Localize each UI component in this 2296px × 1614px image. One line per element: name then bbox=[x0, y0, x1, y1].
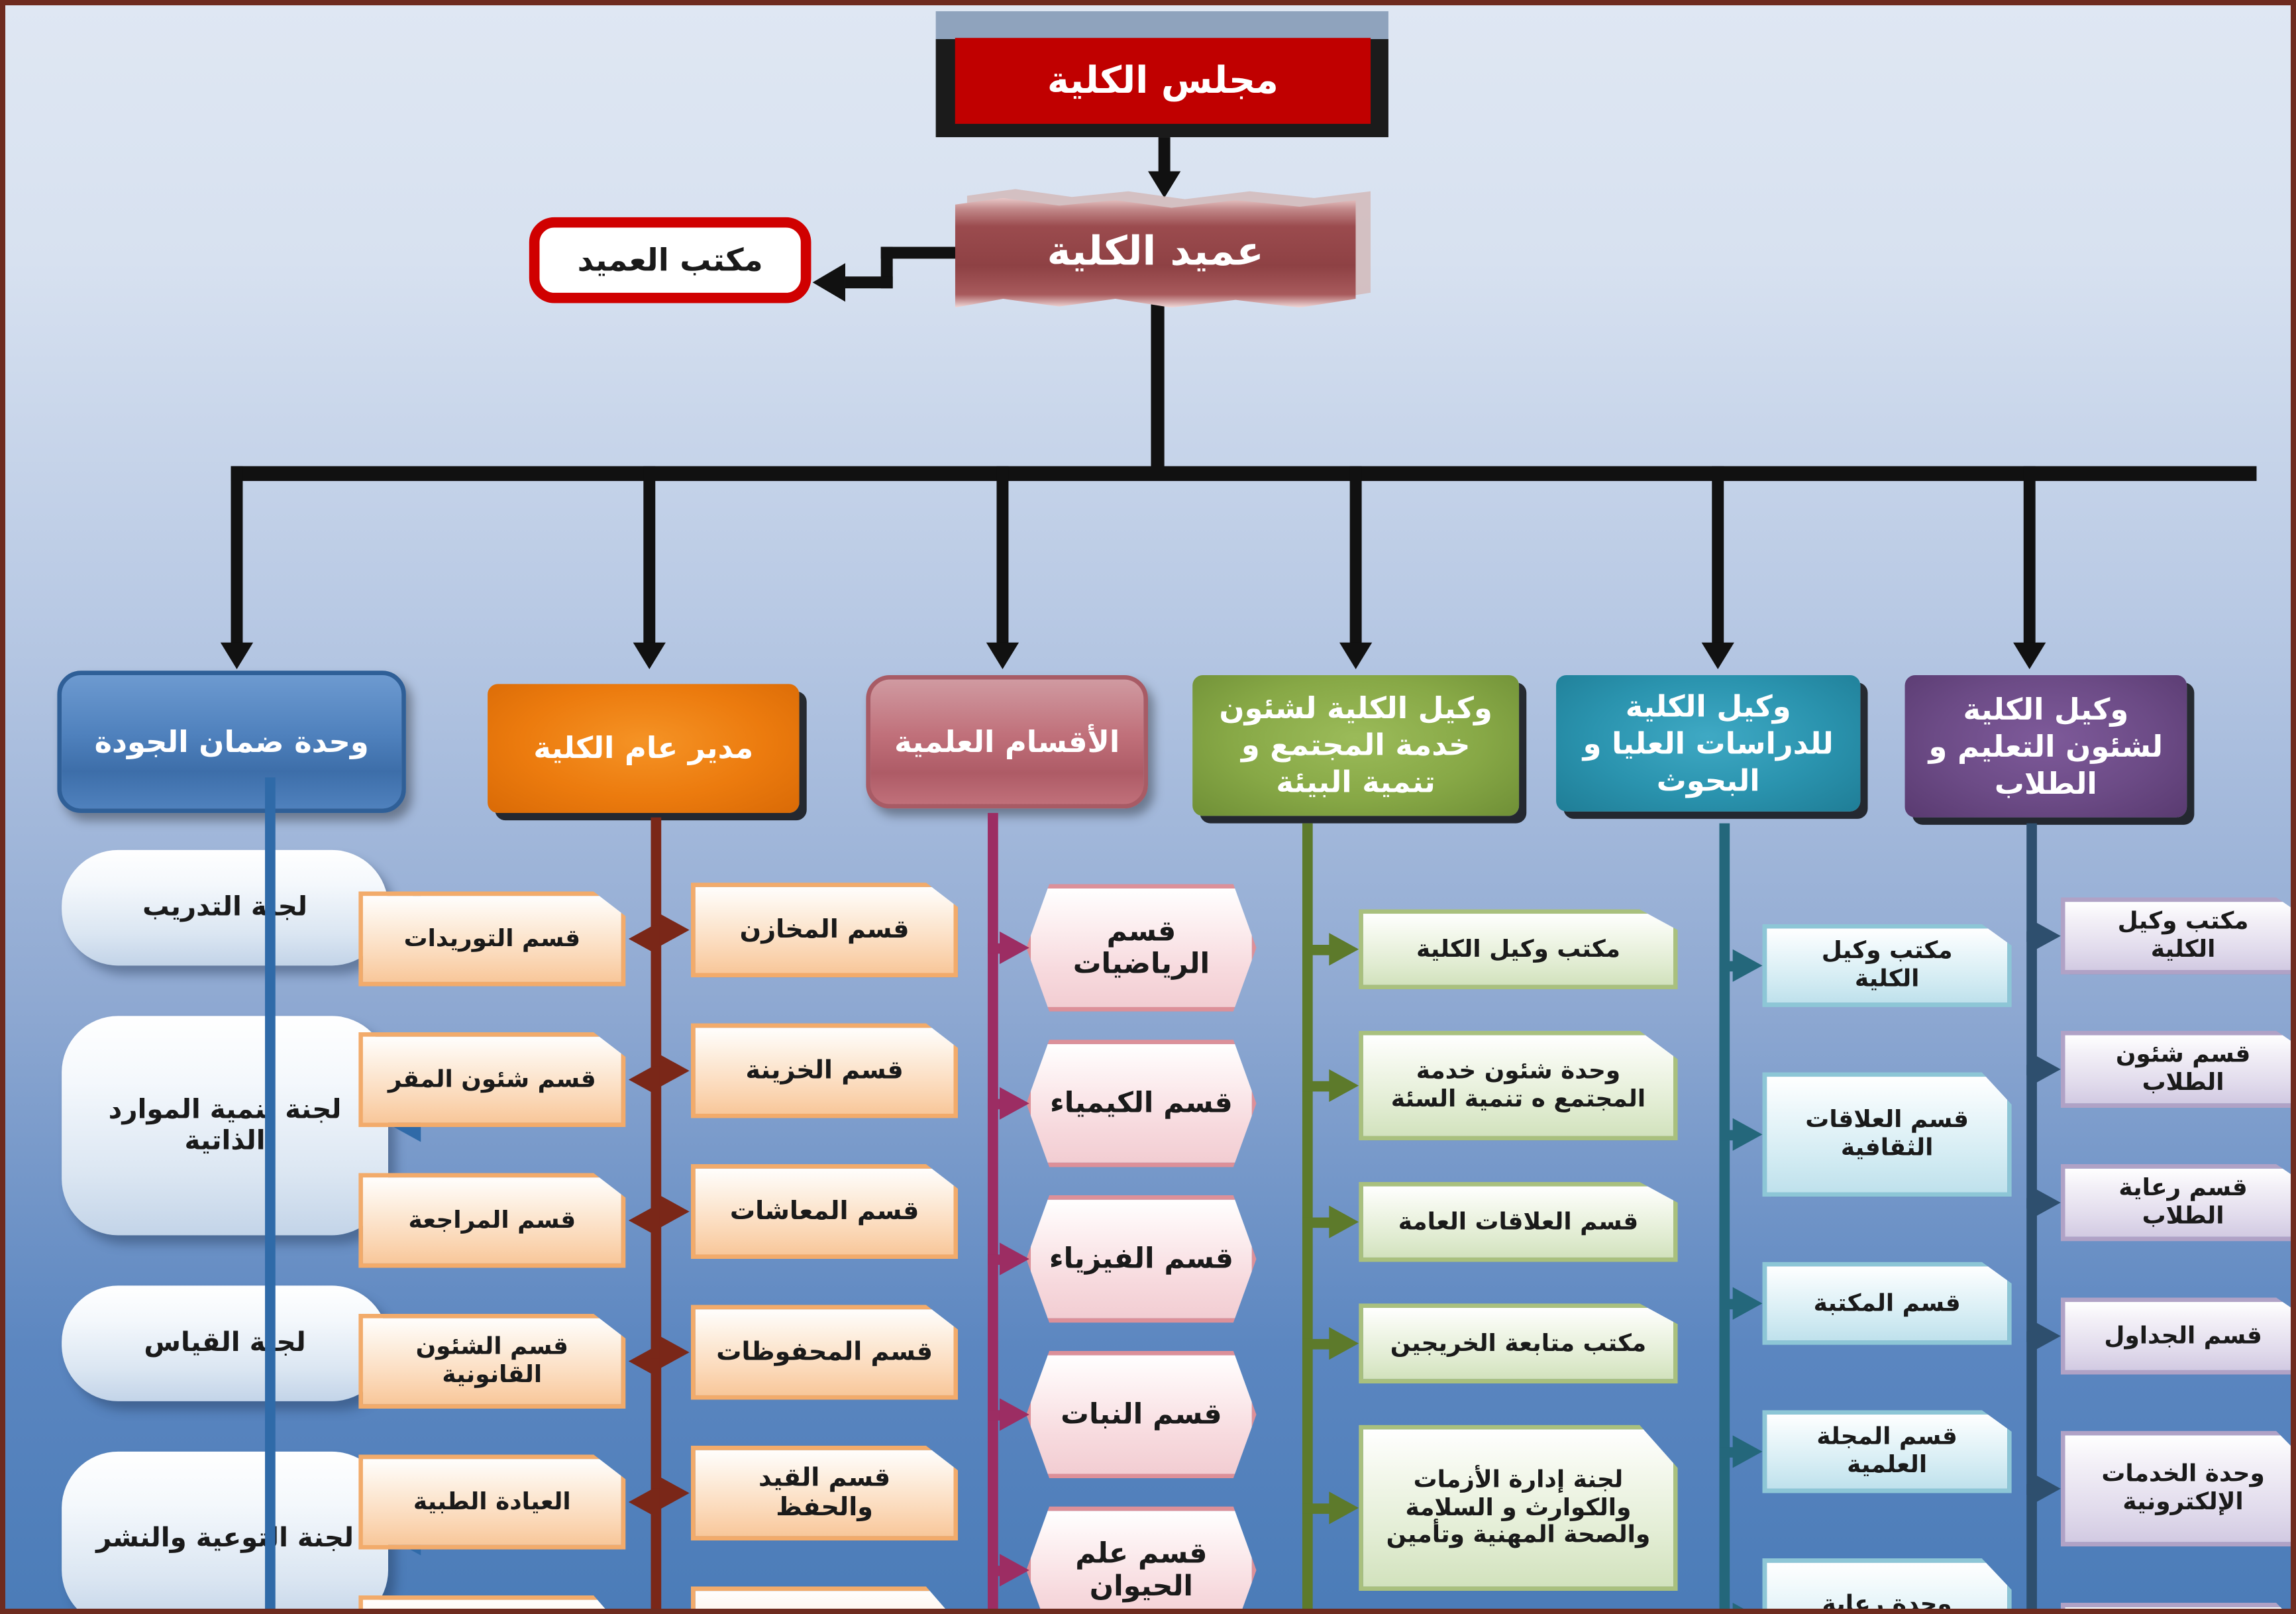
departments-arrow-1 bbox=[1000, 1087, 1029, 1120]
org-chart-canvas: مجلس الكلية عميد الكلية مكتب العميد وحدة… bbox=[5, 5, 2291, 1609]
community-branch-4 bbox=[1302, 1503, 1332, 1514]
manager-right-child-2[interactable]: قسم المعاشات bbox=[691, 1164, 958, 1259]
graduate-child-2[interactable]: قسم المكتبة bbox=[1762, 1262, 2011, 1345]
community-child-1[interactable]: وحدة شئون خدمة المجتمع ه تنمية السئة bbox=[1359, 1031, 1678, 1141]
education-child-5[interactable]: قسم شئون الخريجين bbox=[2061, 1603, 2291, 1609]
header-graduate[interactable]: وكيل الكلية للدراسات العليا و البحوث bbox=[1556, 675, 1860, 812]
community-branch-0 bbox=[1302, 945, 1332, 955]
drop-education bbox=[2024, 466, 2036, 653]
manager-right-child-5[interactable]: قسم استحقاقات عام bbox=[691, 1586, 958, 1609]
graduate-child-4[interactable]: وحدة رعاية الطلاب الوافدين bbox=[1762, 1558, 2011, 1609]
departments-arrow-2 bbox=[1000, 1243, 1029, 1275]
quality-child-0[interactable]: لجنة التدريب bbox=[62, 850, 388, 965]
manager-right-child-4[interactable]: قسم القيد والحفظ bbox=[691, 1446, 958, 1540]
drop-departments bbox=[996, 466, 1008, 653]
header-departments[interactable]: الأقسام العلمية bbox=[866, 675, 1148, 808]
education-child-1[interactable]: قسم شئون الطلاب bbox=[2061, 1031, 2291, 1108]
graduate-spine bbox=[1720, 824, 1730, 1609]
dean-office-elbow-h1 bbox=[881, 247, 964, 259]
community-child-2[interactable]: قسم العلاقات العامة bbox=[1359, 1182, 1678, 1262]
community-arrow-3 bbox=[1329, 1327, 1359, 1360]
department-child-2[interactable]: قسم الفيزياء bbox=[1026, 1195, 1256, 1322]
manager-right-child-3[interactable]: قسم المحفوظات bbox=[691, 1305, 958, 1399]
education-arrow-3 bbox=[2031, 1320, 2061, 1352]
header-education[interactable]: وكيل الكلية لشئون التعليم و الطلاب bbox=[1905, 675, 2187, 818]
community-branch-1 bbox=[1302, 1081, 1332, 1092]
education-child-3[interactable]: قسم الجداول bbox=[2061, 1297, 2291, 1374]
graduate-child-3[interactable]: قسم المجلة العلمية bbox=[1762, 1410, 2011, 1493]
community-child-0[interactable]: مكتب وكيل الكلية bbox=[1359, 909, 1678, 989]
manager-right-arrow-0 bbox=[660, 914, 690, 946]
graduate-arrow-3 bbox=[1733, 1435, 1763, 1468]
departments-arrow-4 bbox=[1000, 1554, 1029, 1586]
community-spine bbox=[1302, 824, 1313, 1609]
header-quality[interactable]: وحدة ضمان الجودة bbox=[57, 671, 405, 813]
community-child-3[interactable]: مكتب متابعة الخريجين bbox=[1359, 1303, 1678, 1383]
dean-office-arrow bbox=[813, 263, 845, 301]
community-arrow-4 bbox=[1329, 1491, 1359, 1524]
quality-child-3[interactable]: لجنة التوعية والنشر bbox=[62, 1452, 388, 1609]
council-to-dean-arrow bbox=[1148, 171, 1180, 197]
community-child-4[interactable]: لجنة إدارة الأزمات والكوارث و السلامة وا… bbox=[1359, 1425, 1678, 1591]
graduate-arrow-0 bbox=[1733, 949, 1763, 982]
education-child-4[interactable]: وحدة الخدمات الإلكترونية bbox=[2061, 1431, 2291, 1546]
drop-arrow-education bbox=[2013, 643, 2046, 669]
drop-manager bbox=[643, 466, 655, 653]
quality-child-2[interactable]: لجنة القياس bbox=[62, 1285, 388, 1401]
manager-right-arrow-1 bbox=[660, 1055, 690, 1087]
manager-left-child-1[interactable]: قسم شئون المقر bbox=[358, 1032, 625, 1127]
community-branch-3 bbox=[1302, 1339, 1332, 1350]
header-community[interactable]: وكيل الكلية لشئون خدمة المجتمع و تنمية ا… bbox=[1192, 675, 1519, 816]
distribution-bus bbox=[231, 466, 2257, 481]
manager-right-arrow-4 bbox=[660, 1477, 690, 1509]
drop-quality bbox=[231, 466, 243, 653]
community-arrow-2 bbox=[1329, 1206, 1359, 1238]
dean-down-line bbox=[1151, 301, 1164, 476]
education-child-2[interactable]: قسم رعاية الطلاب bbox=[2061, 1164, 2291, 1241]
quality-spine bbox=[265, 777, 276, 1609]
department-child-4[interactable]: قسم علم الحيوان bbox=[1026, 1507, 1256, 1609]
dean-node[interactable]: عميد الكلية bbox=[955, 198, 1356, 308]
drop-arrow-community bbox=[1339, 643, 1372, 669]
manager-right-arrow-3 bbox=[660, 1336, 690, 1368]
drop-arrow-manager bbox=[633, 643, 666, 669]
header-manager[interactable]: مدير عام الكلية bbox=[488, 684, 799, 813]
manager-left-child-3[interactable]: قسم الشئون القانونية bbox=[358, 1314, 625, 1409]
drop-arrow-quality bbox=[221, 643, 253, 669]
department-child-1[interactable]: قسم الكيمياء bbox=[1026, 1040, 1256, 1167]
department-child-3[interactable]: قسم النبات bbox=[1026, 1351, 1256, 1478]
drop-graduate bbox=[1712, 466, 1724, 653]
graduate-child-0[interactable]: مكتب وكيل الكلية bbox=[1762, 924, 2011, 1007]
manager-left-child-4[interactable]: العيادة الطبية bbox=[358, 1454, 625, 1549]
manager-left-child-0[interactable]: قسم التوريدات bbox=[358, 891, 625, 986]
education-child-0[interactable]: مكتب وكيل الكلية bbox=[2061, 897, 2291, 974]
education-arrow-4 bbox=[2031, 1472, 2061, 1505]
graduate-arrow-2 bbox=[1733, 1287, 1763, 1320]
education-arrow-2 bbox=[2031, 1187, 2061, 1219]
dean-office-elbow-h2 bbox=[845, 276, 893, 288]
departments-arrow-0 bbox=[1000, 932, 1029, 964]
manager-right-child-1[interactable]: قسم الخزينة bbox=[691, 1024, 958, 1118]
drop-arrow-graduate bbox=[1702, 643, 1734, 669]
drop-arrow-departments bbox=[986, 643, 1019, 669]
manager-left-child-2[interactable]: قسم المراجعة bbox=[358, 1173, 625, 1267]
dean-office-node[interactable]: مكتب العميد bbox=[529, 217, 811, 303]
quality-child-1[interactable]: لجنة تنمية الموارد الذاتية bbox=[62, 1016, 388, 1235]
education-arrow-0 bbox=[2031, 920, 2061, 952]
college-council-node[interactable]: مجلس الكلية bbox=[955, 38, 1371, 124]
graduate-arrow-4 bbox=[1733, 1603, 1763, 1609]
graduate-arrow-1 bbox=[1733, 1118, 1763, 1151]
departments-spine bbox=[988, 813, 998, 1609]
drop-community bbox=[1350, 466, 1362, 653]
graduate-child-1[interactable]: قسم العلاقات الثقافية bbox=[1762, 1072, 2011, 1197]
education-arrow-1 bbox=[2031, 1053, 2061, 1085]
community-branch-2 bbox=[1302, 1218, 1332, 1228]
department-child-0[interactable]: قسم الرياضيات bbox=[1026, 884, 1256, 1011]
manager-right-child-0[interactable]: قسم المخازن bbox=[691, 883, 958, 977]
departments-arrow-3 bbox=[1000, 1398, 1029, 1430]
community-arrow-1 bbox=[1329, 1069, 1359, 1102]
manager-right-arrow-2 bbox=[660, 1195, 690, 1228]
manager-left-child-5[interactable]: قسم الشئون الهندسية bbox=[358, 1595, 625, 1609]
community-arrow-0 bbox=[1329, 933, 1359, 965]
